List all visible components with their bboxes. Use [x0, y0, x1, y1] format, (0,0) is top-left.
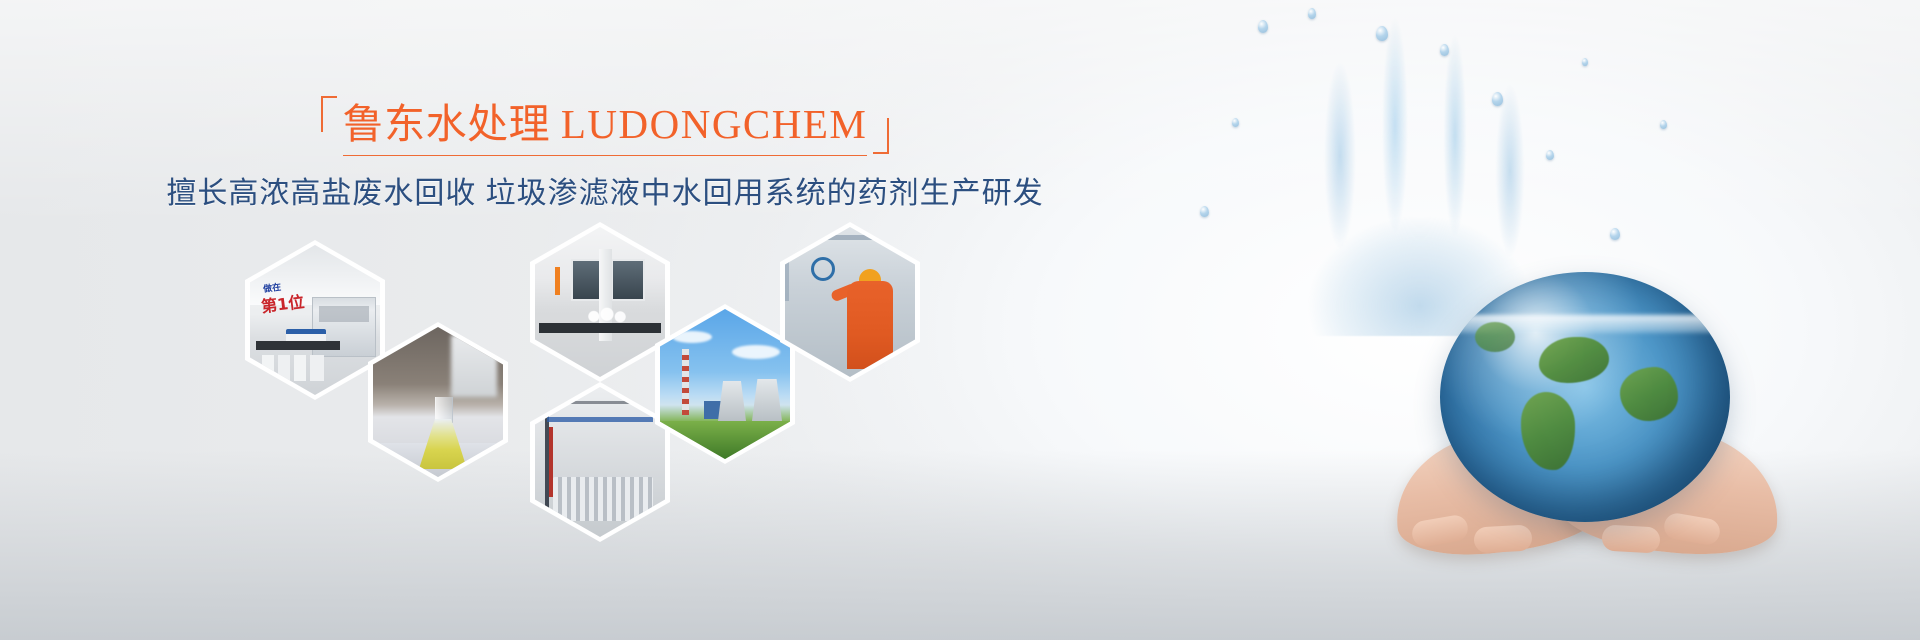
hexagon-tile-piping[interactable] [530, 382, 670, 542]
cooling-tower-shape [718, 381, 746, 421]
hexagon-tile-flask[interactable] [368, 322, 508, 482]
hands-shape [1388, 422, 1788, 572]
banner-title-wrap: 鲁东水处理 LUDONGCHEM [321, 96, 890, 158]
blue-pipe-shape [547, 417, 653, 422]
banner-text-block: 鲁东水处理 LUDONGCHEM 擅长高浓高盐废水回收 垃圾渗滤液中水回用系统的… [0, 96, 1210, 213]
wall-slogan-red-text: 第1位 [260, 288, 306, 317]
hexagon-inner-clip [373, 327, 503, 477]
bracket-bottom-right-icon [873, 118, 889, 154]
cloud-shape [732, 345, 780, 359]
water-droplet [1232, 118, 1239, 127]
globe-waterline-shape [1440, 315, 1730, 333]
finger-shape [1410, 513, 1470, 548]
erlenmeyer-flask-shape [419, 397, 467, 469]
globe-in-hands [1440, 272, 1740, 542]
hexagon-inner-clip [660, 309, 790, 459]
finger-shape [1601, 525, 1660, 554]
hexagon-inner-clip: 做在 第1位 [250, 245, 380, 395]
water-droplet [1492, 92, 1503, 106]
landmass-shape [1475, 322, 1515, 352]
lab-orange-stand-shape [555, 267, 560, 295]
wall-slogan-graphic: 做在 第1位 [258, 276, 317, 313]
hexagon-tile-lab-glass[interactable] [530, 222, 670, 382]
landmass-shape [1521, 392, 1575, 470]
banner-title-cn: 鲁东水处理 [343, 101, 551, 147]
photo-power-plant [660, 309, 790, 459]
cooling-tower-shape [752, 379, 782, 421]
water-droplet [1660, 120, 1667, 129]
landmass-shape [1620, 367, 1678, 421]
right-hand-shape [1554, 417, 1786, 563]
hexagon-tile-lab-slogan[interactable]: 做在 第1位 [245, 240, 385, 400]
lab-bench-shape [256, 341, 340, 350]
chimney-stack-shape [682, 349, 689, 415]
left-hand-shape [1387, 420, 1610, 565]
title-underline-rule [343, 155, 868, 156]
photo-worker-inspection [785, 227, 915, 377]
bracket-top-left-icon [321, 96, 337, 132]
splash-crown-shape [1210, 6, 1630, 336]
flask-body [419, 419, 467, 469]
hexagon-tile-power-plant[interactable] [655, 304, 795, 464]
banner-title: 鲁东水处理 LUDONGCHEM [343, 102, 868, 148]
membrane-tubes-shape [553, 477, 653, 521]
hexagon-inner-clip [785, 227, 915, 377]
hexagon-inner-clip [535, 387, 665, 537]
water-droplet [1376, 26, 1388, 41]
photo-yellow-flask [373, 327, 503, 477]
hexagon-photo-cluster: 做在 第1位 [245, 222, 965, 522]
finger-shape [1473, 525, 1532, 554]
hexagon-tile-worker[interactable] [780, 222, 920, 382]
lab-jugs-shape [262, 355, 324, 381]
photo-piping-plant [535, 387, 665, 537]
water-droplet [1308, 8, 1316, 19]
finger-shape [1662, 511, 1722, 546]
hexagon-inner-clip [535, 227, 665, 377]
water-splash-artwork [1140, 0, 1920, 640]
photo-lab-slogan: 做在 第1位 [250, 245, 380, 395]
earth-globe-shape [1440, 272, 1730, 522]
lab-glassware-shape [585, 301, 629, 323]
landmass-shape [1539, 337, 1609, 383]
water-droplet [1440, 44, 1449, 56]
photo-lab-glassware [535, 227, 665, 377]
valve-wheel-shape [811, 257, 835, 281]
flask-room-window-shape [451, 335, 497, 397]
cloud-shape [672, 331, 712, 343]
water-droplet [1546, 150, 1554, 160]
green-field-shape [660, 421, 790, 459]
hero-banner: 鲁东水处理 LUDONGCHEM 擅长高浓高盐废水回收 垃圾渗滤液中水回用系统的… [0, 0, 1920, 640]
water-droplet [1258, 20, 1268, 33]
lab-window-right-shape [611, 259, 645, 301]
banner-subtitle: 擅长高浓高盐废水回收 垃圾渗滤液中水回用系统的药剂生产研发 [0, 174, 1210, 213]
worker-coverall-shape [847, 281, 893, 369]
water-droplet [1582, 58, 1588, 66]
banner-title-en: LUDONGCHEM [561, 101, 868, 147]
water-droplet [1610, 228, 1620, 240]
lab-bench-shape [539, 323, 661, 333]
